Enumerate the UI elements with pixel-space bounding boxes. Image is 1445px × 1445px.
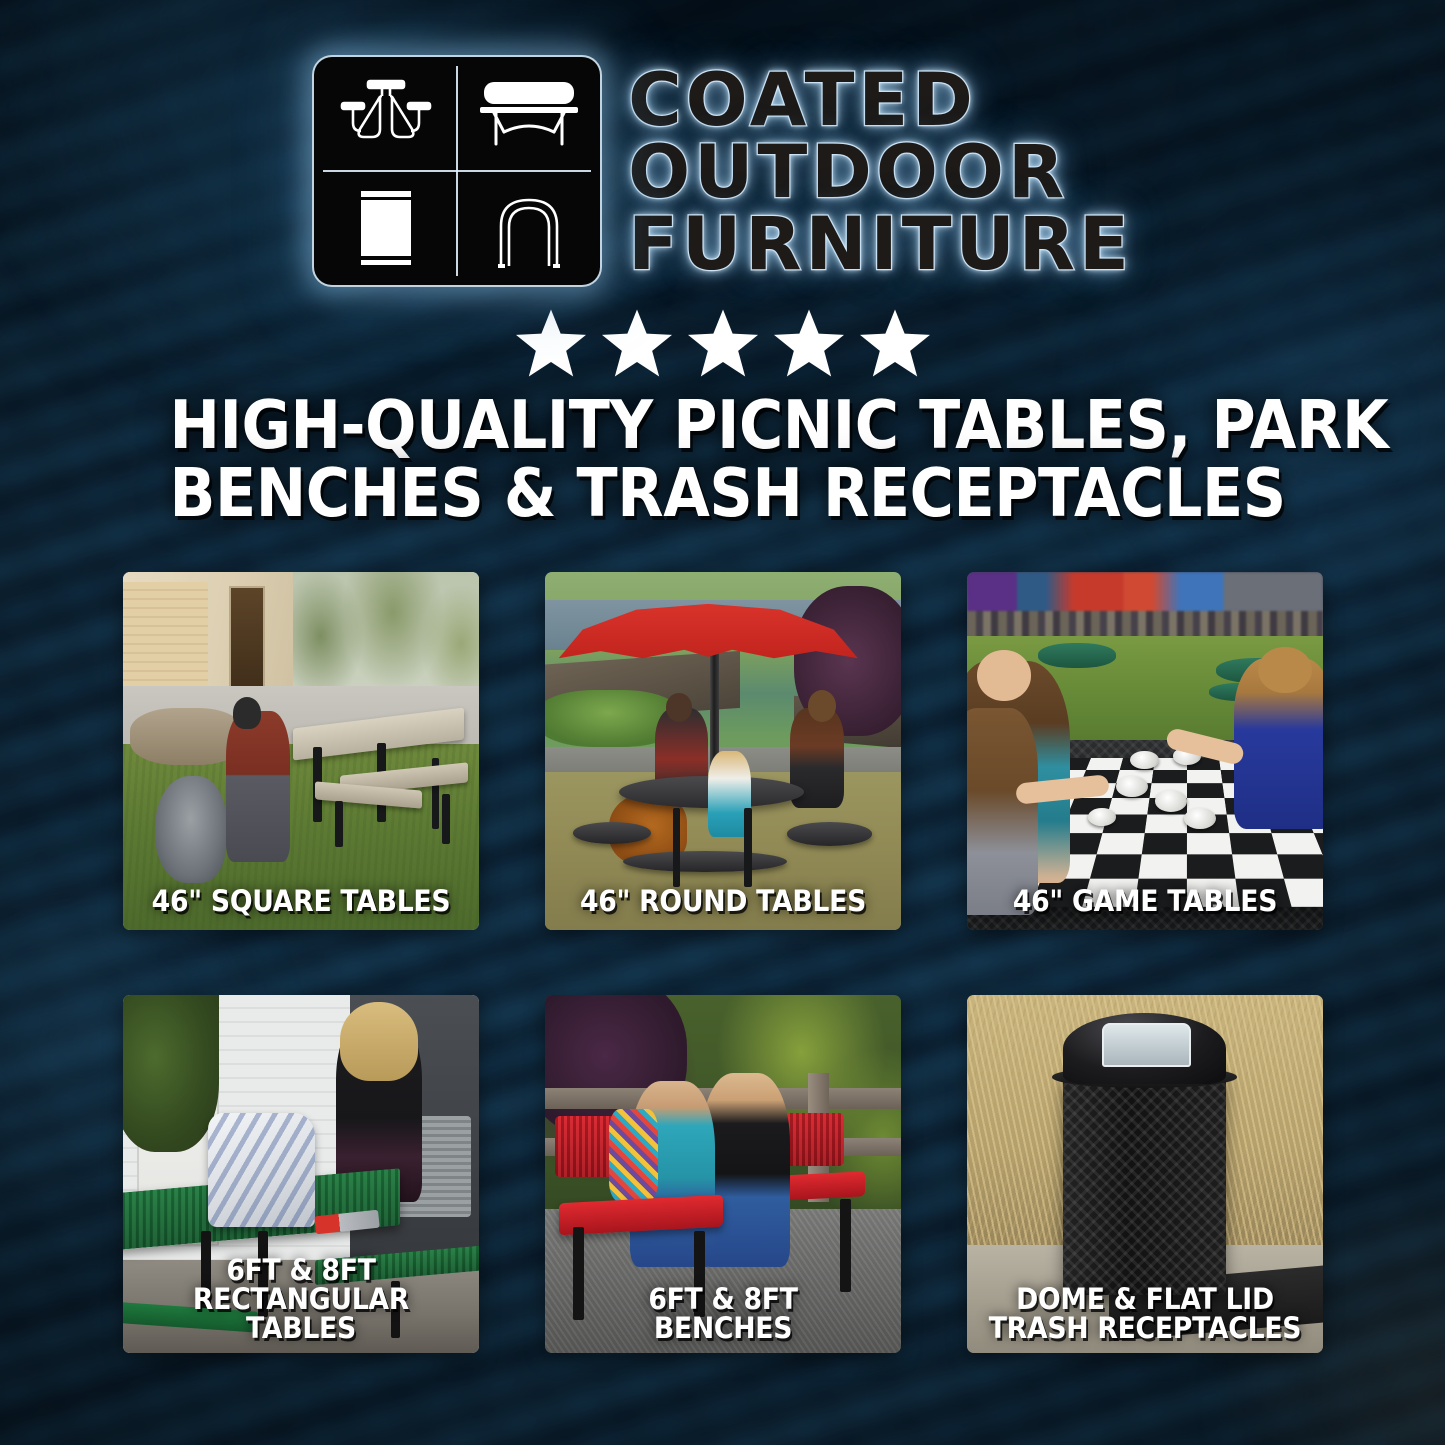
brand-header: COATED OUTDOOR FURNITURE — [0, 0, 1445, 287]
brand-logo-badge — [312, 55, 602, 287]
product-tile-grid: 46" SQUARE TABLES — [117, 572, 1329, 1353]
product-photo-game-tables — [967, 572, 1323, 930]
product-caption-square-tables: 46" SQUARE TABLES — [137, 887, 465, 916]
product-caption-benches: 6FT & 8FT BENCHES — [559, 1285, 887, 1343]
bike-rack-icon — [457, 171, 600, 285]
wordmark-line-outdoor: OUTDOOR — [628, 138, 1133, 208]
trash-receptacle-icon — [314, 171, 457, 285]
park-bench-icon — [457, 57, 600, 171]
product-tile-trash-receptacles[interactable]: DOME & FLAT LID TRASH RECEPTACLES — [967, 995, 1323, 1353]
caption-line-1: 46" SQUARE TABLES — [142, 887, 458, 916]
caption-line-2: RECTANGULAR TABLES — [142, 1285, 458, 1343]
brand-wordmark: COATED OUTDOOR FURNITURE — [628, 62, 1133, 280]
star-icon — [602, 309, 672, 377]
caption-line-1: 6FT & 8FT — [564, 1285, 880, 1314]
poster-content: COATED OUTDOOR FURNITURE HIGH-QUALITY PI… — [0, 0, 1445, 1445]
star-icon — [860, 309, 930, 377]
product-tile-round-tables[interactable]: 46" ROUND TABLES — [545, 572, 901, 930]
product-caption-round-tables: 46" ROUND TABLES — [559, 887, 887, 916]
product-caption-game-tables: 46" GAME TABLES — [981, 887, 1309, 916]
product-caption-trash-receptacles: DOME & FLAT LID TRASH RECEPTACLES — [981, 1285, 1309, 1343]
product-photo-square-tables — [123, 572, 479, 930]
star-icon — [774, 309, 844, 377]
headline-line-1: HIGH-QUALITY PICNIC TABLES, PARK — [169, 391, 1276, 459]
five-star-rating — [0, 309, 1445, 377]
headline-line-2: BENCHES & TRASH RECEPTACLES — [169, 459, 1276, 527]
marketing-poster: COATED OUTDOOR FURNITURE HIGH-QUALITY PI… — [0, 0, 1445, 1445]
product-tile-benches[interactable]: 6FT & 8FT BENCHES — [545, 995, 901, 1353]
picnic-table-icon — [314, 57, 457, 171]
star-icon — [516, 309, 586, 377]
product-photo-round-tables — [545, 572, 901, 930]
product-tile-rectangular-tables[interactable]: 6FT & 8FT RECTANGULAR TABLES — [123, 995, 479, 1353]
caption-line-2: BENCHES — [564, 1314, 880, 1343]
product-tile-game-tables[interactable]: 46" GAME TABLES — [967, 572, 1323, 930]
star-icon — [688, 309, 758, 377]
caption-line-1: 46" ROUND TABLES — [564, 887, 880, 916]
caption-line-1: DOME & FLAT LID — [986, 1285, 1302, 1314]
wordmark-line-furniture: FURNITURE — [628, 210, 1133, 280]
caption-line-1: 6FT & 8FT — [142, 1256, 458, 1285]
wordmark-line-coated: COATED — [628, 66, 1133, 136]
product-tile-square-tables[interactable]: 46" SQUARE TABLES — [123, 572, 479, 930]
headline: HIGH-QUALITY PICNIC TABLES, PARK BENCHES… — [169, 391, 1276, 528]
product-caption-rectangular-tables: 6FT & 8FT RECTANGULAR TABLES — [137, 1256, 465, 1343]
caption-line-2: TRASH RECEPTACLES — [986, 1314, 1302, 1343]
caption-line-1: 46" GAME TABLES — [986, 887, 1302, 916]
